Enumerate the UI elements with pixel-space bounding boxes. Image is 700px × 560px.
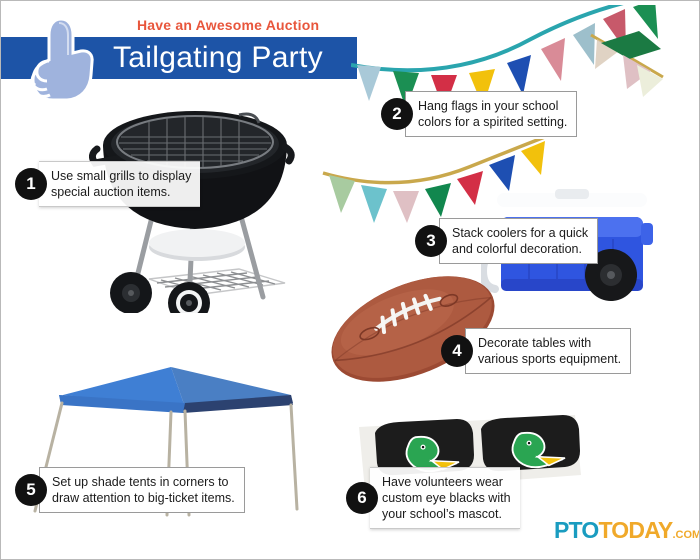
foam-finger-icon	[21, 9, 107, 105]
callout-text-2: Hang flags in your school colors for a s…	[405, 91, 577, 137]
callout-4: 4 Decorate tables with various sports eq…	[441, 328, 631, 374]
callout-text-1: Use small grills to display special auct…	[39, 161, 200, 207]
callout-number-6: 6	[346, 482, 378, 514]
callout-1: 1 Use small grills to display special au…	[15, 161, 200, 207]
logo-dotcom-text: .COM	[672, 529, 700, 541]
logo-today-text: TODAY	[598, 517, 672, 543]
callout-text-3: Stack coolers for a quick and colorful d…	[439, 218, 598, 264]
callout-number-5: 5	[15, 474, 47, 506]
callout-number-1: 1	[15, 168, 47, 200]
callout-text-5: Set up shade tents in corners to draw at…	[39, 467, 245, 513]
callout-3: 3 Stack coolers for a quick and colorful…	[415, 218, 598, 264]
callout-number-2: 2	[381, 98, 413, 130]
callout-6: 6 Have volunteers wear custom eye blacks…	[346, 467, 520, 529]
page-title: Tailgating Party	[113, 37, 363, 79]
callout-text-4: Decorate tables with various sports equi…	[465, 328, 631, 374]
callout-number-4: 4	[441, 335, 473, 367]
logo-pto-text: PTO	[554, 517, 598, 543]
callout-5: 5 Set up shade tents in corners to draw …	[15, 467, 245, 513]
callout-number-3: 3	[415, 225, 447, 257]
header-subtitle: Have an Awesome Auction	[137, 17, 319, 33]
pto-today-logo[interactable]: PTOTODAY.COM	[554, 517, 700, 544]
callout-text-6: Have volunteers wear custom eye blacks w…	[370, 467, 520, 529]
infographic-poster: Have an Awesome Auction Tailgating Party	[0, 0, 700, 560]
callout-2: 2 Hang flags in your school colors for a…	[381, 91, 577, 137]
